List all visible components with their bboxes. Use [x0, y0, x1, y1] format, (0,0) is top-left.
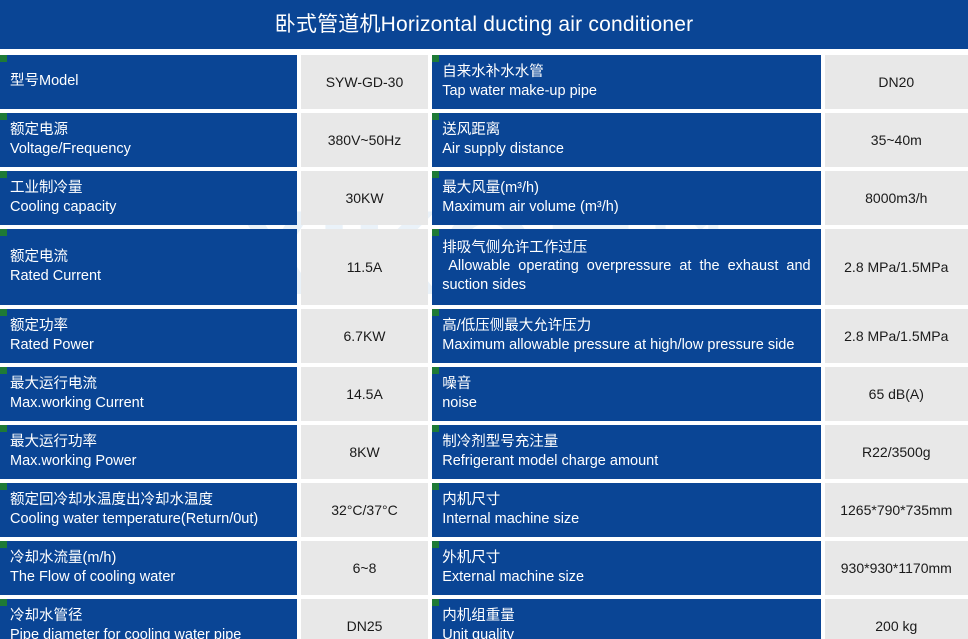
spec-value-cell: 35~40m — [825, 113, 968, 167]
spec-value-cell: DN20 — [825, 55, 968, 109]
spec-value-cell: 2.8 MPa/1.5MPa — [825, 309, 968, 363]
spec-value-cell: 8000m3/h — [825, 171, 968, 225]
spec-label-chinese: 额定电流 — [10, 248, 287, 267]
spec-label-english: Max.working Current — [10, 394, 287, 413]
title-banner: 卧式管道机Horizontal ducting air conditioner — [0, 0, 968, 49]
table-row: 最大运行电流Max.working Current14.5A噪音noise65 … — [0, 367, 968, 421]
spec-value-cell: 2.8 MPa/1.5MPa — [825, 229, 968, 305]
spec-label-cell: 额定电源Voltage/Frequency — [0, 113, 297, 167]
spec-label-chinese: 外机尺寸 — [442, 549, 810, 568]
spec-label-english: External machine size — [442, 568, 810, 587]
spec-label-cell: 冷却水管径Pipe diameter for cooling water pip… — [0, 599, 297, 639]
spec-label-cell: 冷却水流量(m/h)The Flow of cooling water — [0, 541, 297, 595]
spec-sheet: XIKO 犀科 卧式管道机Horizontal ducting air cond… — [0, 0, 968, 639]
spec-label-english: Pipe diameter for cooling water pipe — [10, 626, 287, 639]
spec-label-chinese: 最大运行电流 — [10, 375, 287, 394]
spec-label-cell: 工业制冷量Cooling capacity — [0, 171, 297, 225]
specification-table: 型号ModelSYW-GD-30自来水补水水管Tap water make-up… — [0, 55, 968, 639]
spec-label-english: The Flow of cooling water — [10, 568, 287, 587]
spec-label-cell: 额定电流Rated Current — [0, 229, 297, 305]
spec-label-cell: 送风距离Air supply distance — [432, 113, 820, 167]
spec-label-chinese: 冷却水管径 — [10, 607, 287, 626]
spec-label-chinese: 噪音 — [442, 375, 810, 394]
spec-label-english: Cooling water temperature(Return/0ut) — [10, 510, 287, 529]
spec-label-cell: 额定功率Rated Power — [0, 309, 297, 363]
spec-value-cell: 6~8 — [301, 541, 428, 595]
spec-label-cell: 最大运行电流Max.working Current — [0, 367, 297, 421]
spec-value-cell: 30KW — [301, 171, 428, 225]
spec-label-english: Max.working Power — [10, 452, 287, 471]
spec-label-chinese: 送风距离 — [442, 121, 810, 140]
spec-value-cell: SYW-GD-30 — [301, 55, 428, 109]
spec-value-cell: 65 dB(A) — [825, 367, 968, 421]
spec-value-cell: 1265*790*735mm — [825, 483, 968, 537]
table-row: 额定回冷却水温度出冷却水温度Cooling water temperature(… — [0, 483, 968, 537]
spec-label-chinese: 额定回冷却水温度出冷却水温度 — [10, 491, 287, 510]
spec-value-cell: 6.7KW — [301, 309, 428, 363]
spec-label-cell: 噪音noise — [432, 367, 820, 421]
spec-value-cell: 8KW — [301, 425, 428, 479]
spec-label-cell: 自来水补水水管Tap water make-up pipe — [432, 55, 820, 109]
spec-label-chinese: 额定功率 — [10, 317, 287, 336]
spec-value-cell: 380V~50Hz — [301, 113, 428, 167]
page-title: 卧式管道机Horizontal ducting air conditioner — [275, 14, 694, 35]
spec-label-english: Maximum allowable pressure at high/low p… — [442, 336, 810, 355]
spec-label-cell: 高/低压侧最大允许压力Maximum allowable pressure at… — [432, 309, 820, 363]
spec-label-english: Allowable operating overpressure at the … — [442, 257, 810, 295]
spec-label-chinese: 制冷剂型号充注量 — [442, 433, 810, 452]
spec-label-cell: 额定回冷却水温度出冷却水温度Cooling water temperature(… — [0, 483, 297, 537]
spec-label-cell: 内机尺寸Internal machine size — [432, 483, 820, 537]
spec-label-chinese: 自来水补水水管 — [442, 63, 810, 82]
spec-label-english: Refrigerant model charge amount — [442, 452, 810, 471]
spec-value-cell: 11.5A — [301, 229, 428, 305]
spec-label-chinese: 最大运行功率 — [10, 433, 287, 452]
spec-label-cell: 最大运行功率Max.working Power — [0, 425, 297, 479]
spec-label-english: Internal machine size — [442, 510, 810, 529]
spec-label-cell: 制冷剂型号充注量Refrigerant model charge amount — [432, 425, 820, 479]
spec-label-chinese: 型号Model — [10, 72, 287, 91]
spec-label-english: Air supply distance — [442, 140, 810, 159]
spec-label-cell: 最大风量(m³/h)Maximum air volume (m³/h) — [432, 171, 820, 225]
spec-label-cell: 外机尺寸External machine size — [432, 541, 820, 595]
spec-label-english: Tap water make-up pipe — [442, 82, 810, 101]
spec-label-cell: 排吸气侧允许工作过压Allowable operating overpressu… — [432, 229, 820, 305]
table-row: 额定功率Rated Power6.7KW高/低压侧最大允许压力Maximum a… — [0, 309, 968, 363]
spec-value-cell: DN25 — [301, 599, 428, 639]
spec-label-chinese: 内机组重量 — [442, 607, 810, 626]
spec-label-english: Cooling capacity — [10, 198, 287, 217]
table-row: 冷却水流量(m/h)The Flow of cooling water6~8外机… — [0, 541, 968, 595]
spec-label-chinese: 冷却水流量(m/h) — [10, 549, 287, 568]
table-row: 工业制冷量Cooling capacity30KW最大风量(m³/h)Maxim… — [0, 171, 968, 225]
table-row: 额定电源Voltage/Frequency380V~50Hz送风距离Air su… — [0, 113, 968, 167]
table-row: 最大运行功率Max.working Power8KW制冷剂型号充注量Refrig… — [0, 425, 968, 479]
spec-label-english: Unit quality — [442, 626, 810, 639]
spec-label-chinese: 高/低压侧最大允许压力 — [442, 317, 810, 336]
spec-value-cell: 200 kg — [825, 599, 968, 639]
spec-value-cell: 32°C/37°C — [301, 483, 428, 537]
spec-label-cell: 内机组重量Unit quality — [432, 599, 820, 639]
table-row: 额定电流Rated Current11.5A排吸气侧允许工作过压Allowabl… — [0, 229, 968, 305]
spec-label-chinese: 内机尺寸 — [442, 491, 810, 510]
table-row: 冷却水管径Pipe diameter for cooling water pip… — [0, 599, 968, 639]
table-row: 型号ModelSYW-GD-30自来水补水水管Tap water make-up… — [0, 55, 968, 109]
spec-value-cell: 930*930*1170mm — [825, 541, 968, 595]
spec-label-chinese: 最大风量(m³/h) — [442, 179, 810, 198]
spec-label-chinese: 额定电源 — [10, 121, 287, 140]
spec-label-english: Rated Power — [10, 336, 287, 355]
spec-label-cell: 型号Model — [0, 55, 297, 109]
spec-label-chinese: 工业制冷量 — [10, 179, 287, 198]
spec-label-english: Maximum air volume (m³/h) — [442, 198, 810, 217]
spec-label-chinese: 排吸气侧允许工作过压 — [442, 239, 810, 258]
spec-value-cell: R22/3500g — [825, 425, 968, 479]
spec-label-english: Voltage/Frequency — [10, 140, 287, 159]
spec-label-english: noise — [442, 394, 810, 413]
spec-value-cell: 14.5A — [301, 367, 428, 421]
spec-label-english: Rated Current — [10, 267, 287, 286]
